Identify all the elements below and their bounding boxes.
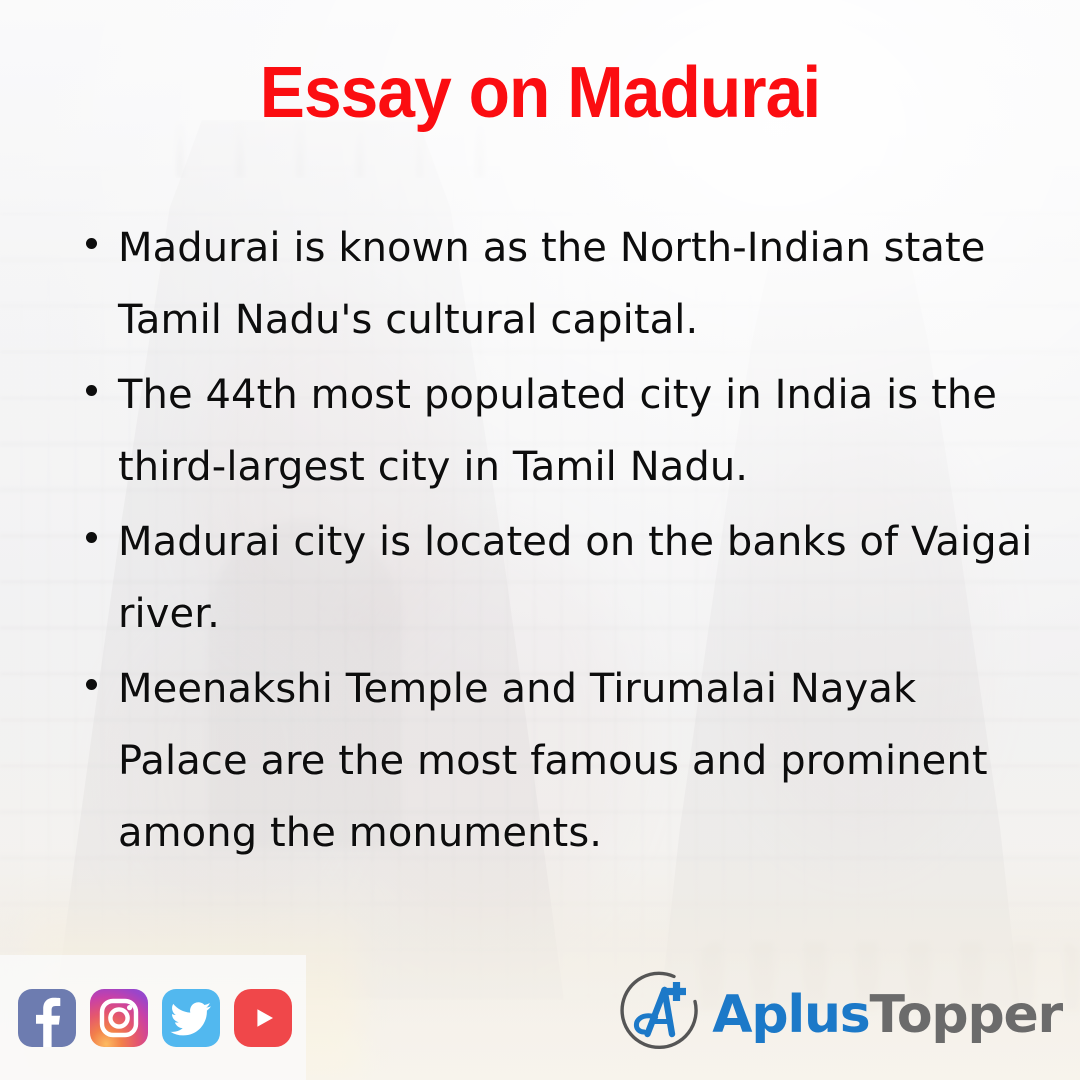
youtube-icon[interactable] [234,989,292,1047]
brand-logo[interactable]: AplusTopper [614,966,1062,1058]
twitter-icon[interactable] [162,989,220,1047]
poster-canvas: Essay on Madurai Madurai is known as the… [0,0,1080,1080]
brand-name-secondary: Topper [870,985,1062,1045]
bullet-dot-icon [86,238,97,249]
list-item-text: Madurai is known as the North-Indian sta… [118,225,985,343]
list-item: Madurai is known as the North-Indian sta… [72,212,1052,356]
list-item: Meenakshi Temple and Tirumalai Nayak Pal… [72,653,1052,869]
list-item-text: The 44th most populated city in India is… [118,372,997,490]
list-item: Madurai city is located on the banks of … [72,506,1052,650]
brand-name-primary: Aplus [712,985,869,1045]
list-item-text: Meenakshi Temple and Tirumalai Nayak Pal… [118,666,988,856]
list-item: The 44th most populated city in India is… [72,359,1052,503]
facebook-icon[interactable] [18,989,76,1047]
brand-wordmark: AplusTopper [712,989,1062,1041]
list-item-text: Madurai city is located on the banks of … [118,519,1033,637]
instagram-icon[interactable] [90,989,148,1047]
social-links-bar [0,955,306,1080]
bullet-dot-icon [86,679,97,690]
bullet-dot-icon [86,385,97,396]
bullet-dot-icon [86,532,97,543]
fact-list: Madurai is known as the North-Indian sta… [72,212,1052,872]
aplus-logo-mark [614,966,706,1058]
poster-content: Essay on Madurai Madurai is known as the… [0,0,1080,1080]
page-title: Essay on Madurai [32,52,1047,134]
